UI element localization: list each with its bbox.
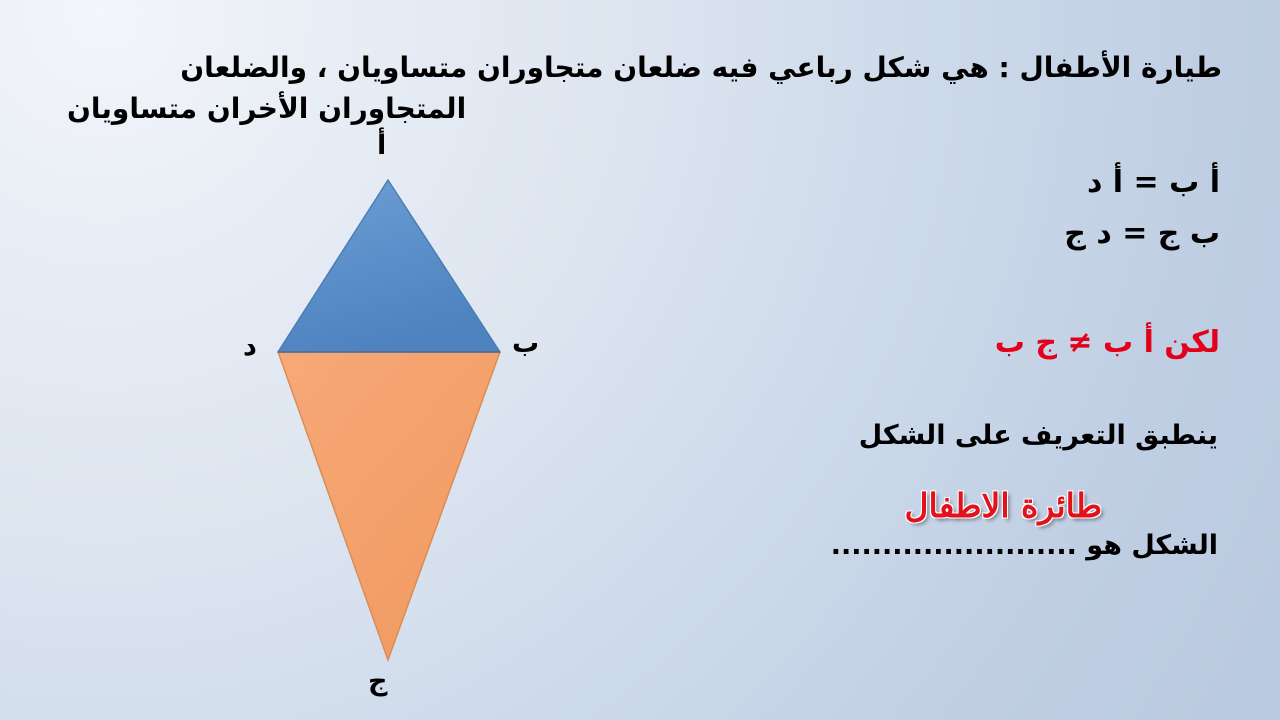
shape-is-blank-line: الشكل هو ........................ — [831, 530, 1218, 561]
slide-canvas: طيارة الأطفال : هي شكل رباعي فيه ضلعان م… — [0, 0, 1280, 720]
vertex-label-b: ب — [512, 330, 539, 357]
lower-triangle — [278, 352, 500, 660]
equation-bc-equals-dc: ب ج = د ج — [1064, 216, 1220, 251]
kite-diagram: أ د ب ج — [0, 0, 680, 720]
vertex-label-a: أ — [377, 132, 386, 159]
definition-applies-text: ينطبق التعريف على الشكل — [859, 420, 1218, 451]
answer-wordart: طائرة الاطفال — [905, 486, 1102, 525]
vertex-label-d: د — [243, 333, 257, 360]
upper-triangle — [278, 180, 500, 352]
vertex-label-c: ج — [368, 668, 387, 695]
equation-ab-equals-ad: أ ب = أ د — [1087, 165, 1220, 200]
inequality-statement: لكن أ ب ≠ ج ب — [995, 325, 1220, 360]
